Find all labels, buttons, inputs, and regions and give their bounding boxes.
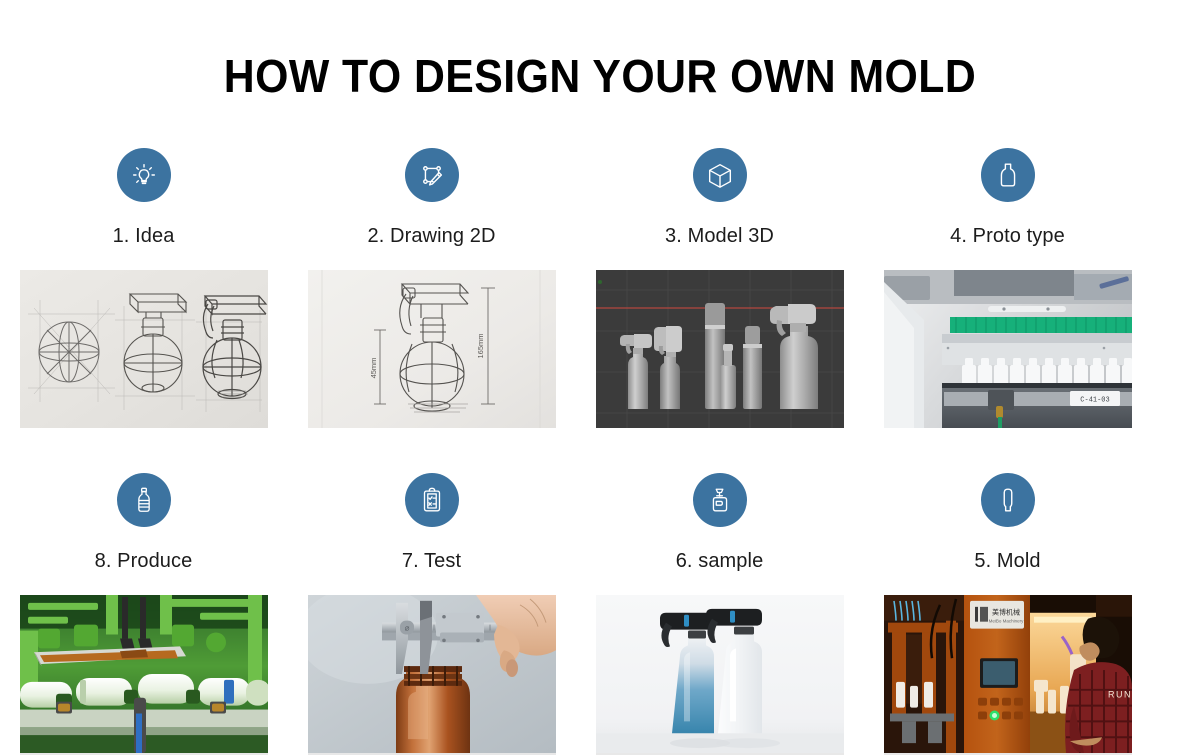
step-card-sample[interactable]: 6. sample xyxy=(576,473,863,755)
step-card-drawing-2d[interactable]: 2. Drawing 2D xyxy=(288,148,575,428)
svg-text:美博机械: 美博机械 xyxy=(992,608,1020,617)
step-label: 4. Proto type xyxy=(950,224,1065,248)
step-icon-badge xyxy=(405,473,459,527)
step-card-proto-type[interactable]: 4. Proto type xyxy=(864,148,1151,428)
step-icon-badge xyxy=(693,148,747,202)
sample-bottles-photo xyxy=(596,595,844,755)
step-card-test[interactable]: 7. Test xyxy=(288,473,575,755)
worker-shirt-text: RUNNER xyxy=(1108,690,1132,700)
step-icon-badge xyxy=(693,473,747,527)
step-label: 3. Model 3D xyxy=(665,224,774,248)
step-icon-badge xyxy=(117,148,171,202)
svg-text:MeiBo Machinery: MeiBo Machinery xyxy=(988,619,1024,624)
step-icon-badge xyxy=(981,148,1035,202)
production-line-photo xyxy=(20,595,268,755)
step-card-mold[interactable]: 5. Mold xyxy=(864,473,1151,755)
step-card-produce[interactable]: 8. Produce xyxy=(0,473,287,755)
cad-viewport-photo xyxy=(596,270,844,428)
dimension-label-width: 45mm xyxy=(369,358,378,379)
step-icon-badge xyxy=(405,148,459,202)
svg-text:⌀: ⌀ xyxy=(404,624,409,633)
pump-dispenser-icon xyxy=(705,485,735,515)
clipboard-check-icon xyxy=(417,485,447,515)
step-label: 8. Produce xyxy=(95,549,193,573)
lightbulb-icon xyxy=(129,160,159,190)
dimension-label-height: 165mm xyxy=(476,333,485,358)
step-icon-badge xyxy=(981,473,1035,527)
steps-grid: 1. Idea xyxy=(0,148,1200,755)
step-icon-badge xyxy=(117,473,171,527)
step-label: 6. sample xyxy=(676,549,764,573)
preform-mold-icon xyxy=(993,485,1023,515)
infographic-page: HOW TO DESIGN YOUR OWN MOLD xyxy=(0,0,1200,750)
water-bottle-icon xyxy=(129,485,159,515)
step-card-idea[interactable]: 1. Idea xyxy=(0,148,287,428)
machine-id-label: C-41-03 xyxy=(1080,397,1109,405)
technical-drawing-photo: 165mm 45mm xyxy=(308,270,556,428)
drawing-pencil-icon xyxy=(417,160,447,190)
steps-row-top: 1. Idea xyxy=(0,148,1200,428)
steps-row-bottom: 8. Produce xyxy=(0,473,1200,755)
cube-icon xyxy=(705,160,735,190)
step-card-model-3d[interactable]: 3. Model 3D xyxy=(576,148,863,428)
pencil-sketch-photo xyxy=(20,270,268,428)
step-label: 2. Drawing 2D xyxy=(367,224,495,248)
step-label: 7. Test xyxy=(402,549,461,573)
blow-molding-photo: 美博机械 MeiBo Machinery xyxy=(884,595,1132,755)
bottle-outline-icon xyxy=(993,160,1023,190)
step-label: 1. Idea xyxy=(113,224,175,248)
step-label: 5. Mold xyxy=(974,549,1040,573)
page-title: HOW TO DESIGN YOUR OWN MOLD xyxy=(42,48,1158,104)
caliper-test-photo: ⌀ xyxy=(308,595,556,755)
prototype-machine-photo: C-41-03 xyxy=(884,270,1132,428)
